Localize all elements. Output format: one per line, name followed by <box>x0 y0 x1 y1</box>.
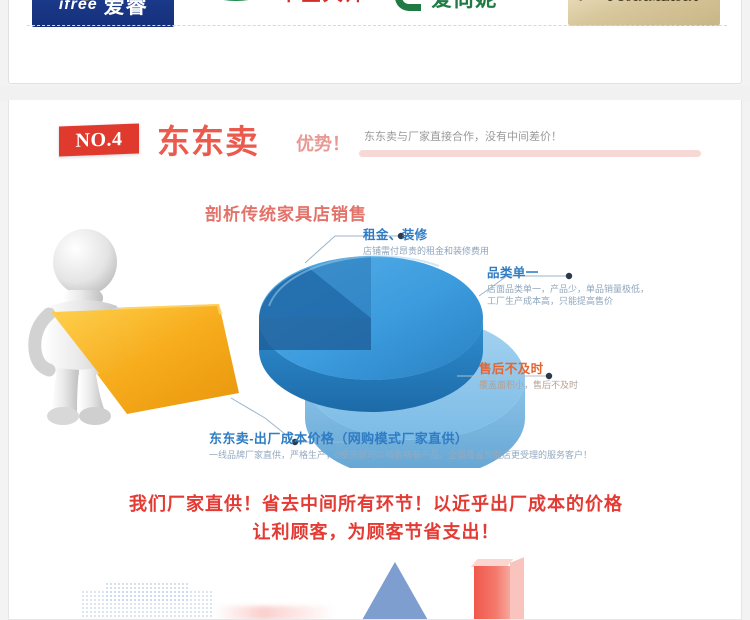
decorative-shapes <box>9 550 742 620</box>
fujiameijia-logo-box: ♫ 富家美佳 FUJIAMEIJIA <box>568 0 720 26</box>
brand-logo-fujiameijia[interactable]: ♫ 富家美佳 FUJIAMEIJIA <box>568 0 720 33</box>
fujiameijia-english: FUJIAMEIJIA <box>608 0 699 5</box>
hook-icon <box>395 0 421 11</box>
annotation-category-detail-2: 工厂生产成本高，只能提高售价 <box>487 295 649 307</box>
mannequin-head <box>53 229 117 295</box>
mujiang-logo-box: MUJIANG 木匠大师 <box>193 0 371 33</box>
annotation-category-title: 品类单一 <box>487 262 649 281</box>
annotation-factory-direct: 东东卖-出厂成本价格（网购模式厂家直供） 一线品牌厂家直供，严格生产，0投资就可… <box>209 428 592 461</box>
annotation-aftersales-detail: 覆盖面积小，售后不及时 <box>479 379 578 391</box>
ifree-english: ifree <box>59 0 98 14</box>
annotation-category-detail-1: 店面品类单一，产品少，单品销量极低， <box>487 283 649 295</box>
mujiang-chinese: 木匠大师 <box>279 0 367 6</box>
section-title-sub: 优势！ <box>296 130 350 156</box>
oval-frame-icon <box>199 0 273 1</box>
advantage-section-panel: NO.4 东东卖 优势！ 东东卖与厂家直接合作，没有中间差价！ 剖析传统家具店销… <box>8 100 742 620</box>
red-bar-front-face <box>474 566 510 620</box>
section-number-badge: NO.4 <box>59 123 139 156</box>
dashed-divider <box>27 25 727 26</box>
mannequin-foot-left <box>47 407 79 425</box>
section-header-underline <box>359 150 701 157</box>
seal-icon: ♫ <box>576 0 602 8</box>
slogan-line-1: 我们厂家直供！省去中间所有环节！以近乎出厂成本的价格 <box>9 490 742 518</box>
pyramid-shape <box>361 562 429 620</box>
ifree-logo-box: ifree 爱睿 <box>32 0 174 27</box>
section-header-note: 东东卖与厂家直接合作，没有中间差价！ <box>364 128 562 144</box>
pie-chart-stage: 租金、装修 店铺需付昂贵的租金和装修费用 品类单一 店面品类单一，产品少，单品销… <box>9 218 742 468</box>
ifree-chinese: 爱睿 <box>104 0 148 20</box>
brand-logo-row: ifree 爱睿 MUJIANG 木匠大师 AISHN 爱尚妮 ♫ <box>9 0 742 37</box>
dot-grid-pattern-secondary <box>105 582 189 602</box>
aishn-chinese: 爱尚妮 <box>431 0 497 13</box>
annotation-aftersales-title: 售后不及时 <box>479 358 578 377</box>
brand-logo-aishn[interactable]: AISHN 爱尚妮 <box>389 0 549 33</box>
pink-gradient-smudge <box>215 606 335 620</box>
brand-logo-ifree[interactable]: ifree 爱睿 <box>32 0 174 33</box>
pie-cut-wall <box>259 318 371 350</box>
aishn-logo-box: AISHN 爱尚妮 <box>389 0 549 33</box>
slogan-block: 我们厂家直供！省去中间所有环节！以近乎出厂成本的价格 让利顾客，为顾客节省支出！ <box>9 490 742 546</box>
slogan-line-2: 让利顾客，为顾客节省支出！ <box>9 518 742 546</box>
annotation-rent-decor: 租金、装修 店铺需付昂贵的租金和装修费用 <box>363 224 489 257</box>
annotation-rent-detail: 店铺需付昂贵的租金和装修费用 <box>363 245 489 257</box>
annotation-rent-title: 租金、装修 <box>363 224 489 243</box>
brand-logo-mujiang[interactable]: MUJIANG 木匠大师 <box>193 0 371 33</box>
annotation-factory-detail: 一线品牌厂家直供，严格生产，0投资就可以销售所有产品，全国覆盖加盟店更受理的服务… <box>209 449 592 461</box>
brand-logo-panel: ifree 爱睿 MUJIANG 木匠大师 AISHN 爱尚妮 ♫ <box>8 0 742 84</box>
annotation-factory-title: 东东卖-出厂成本价格（网购模式厂家直供） <box>209 428 592 447</box>
annotation-slow-after-sales: 售后不及时 覆盖面积小，售后不及时 <box>479 358 578 391</box>
section-title-main: 东东卖 <box>157 115 259 163</box>
annotation-single-category: 品类单一 店面品类单一，产品少，单品销量极低， 工厂生产成本高，只能提高售价 <box>487 262 649 307</box>
mannequin-foot-right <box>79 407 111 425</box>
